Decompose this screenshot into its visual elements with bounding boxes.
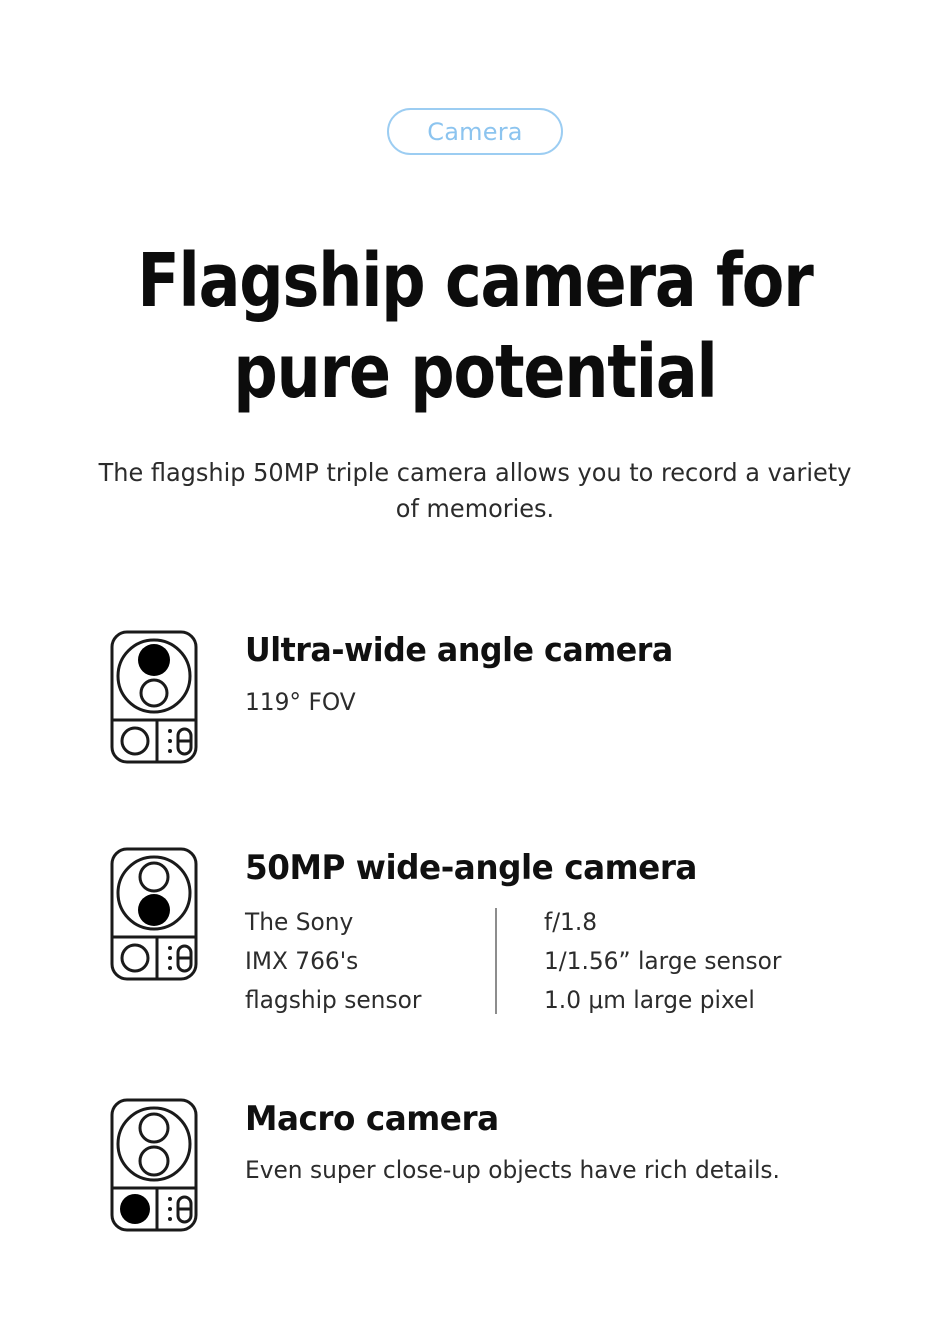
spec-column-left: The Sony IMX 766's flagship sensor [245,903,488,1020]
feature-subtitle: Even super close-up objects have rich de… [245,1154,929,1186]
page-title: Flagship camera for pure potential [80,236,871,420]
feature-title: 50MP wide-angle camera [245,849,922,887]
badge-row: Camera [0,108,950,155]
feature-list: Ultra-wide angle camera 119° FOV [0,630,950,1232]
camera-feature-page: Camera Flagship camera for pure potentia… [0,0,950,1332]
spec-column-right: f/1.8 1/1.56” large sensor 1.0 μm large … [544,903,781,1020]
feature-subtitle: 119° FOV [245,686,929,718]
spec-line: The Sony [245,903,488,942]
feature-body: 50MP wide-angle camera The Sony IMX 766'… [245,847,950,1020]
camera-module-ultrawide-icon [110,630,198,764]
spec-columns: The Sony IMX 766's flagship sensor f/1.8… [245,903,950,1020]
feature-title: Macro camera [245,1100,922,1138]
spec-line: IMX 766's [245,942,488,981]
camera-module-wide-icon [110,847,198,981]
feature-item-ultrawide: Ultra-wide angle camera 119° FOV [0,630,950,764]
feature-item-wide: 50MP wide-angle camera The Sony IMX 766'… [0,847,950,1020]
section-badge: Camera [387,108,563,155]
spec-line: 1.0 μm large pixel [544,981,781,1020]
feature-title: Ultra-wide angle camera [245,632,922,669]
spec-line: f/1.8 [544,903,781,942]
spec-column-divider [495,908,497,1014]
feature-item-macro: Macro camera Even super close-up objects… [0,1098,950,1232]
spec-line: 1/1.56” large sensor [544,942,781,981]
page-subtitle: The flagship 50MP triple camera allows y… [91,455,859,526]
section-badge-label: Camera [427,120,522,144]
feature-body: Macro camera Even super close-up objects… [245,1098,950,1186]
spec-line: flagship sensor [245,981,488,1020]
camera-module-macro-icon [110,1098,198,1232]
feature-body: Ultra-wide angle camera 119° FOV [245,630,950,718]
